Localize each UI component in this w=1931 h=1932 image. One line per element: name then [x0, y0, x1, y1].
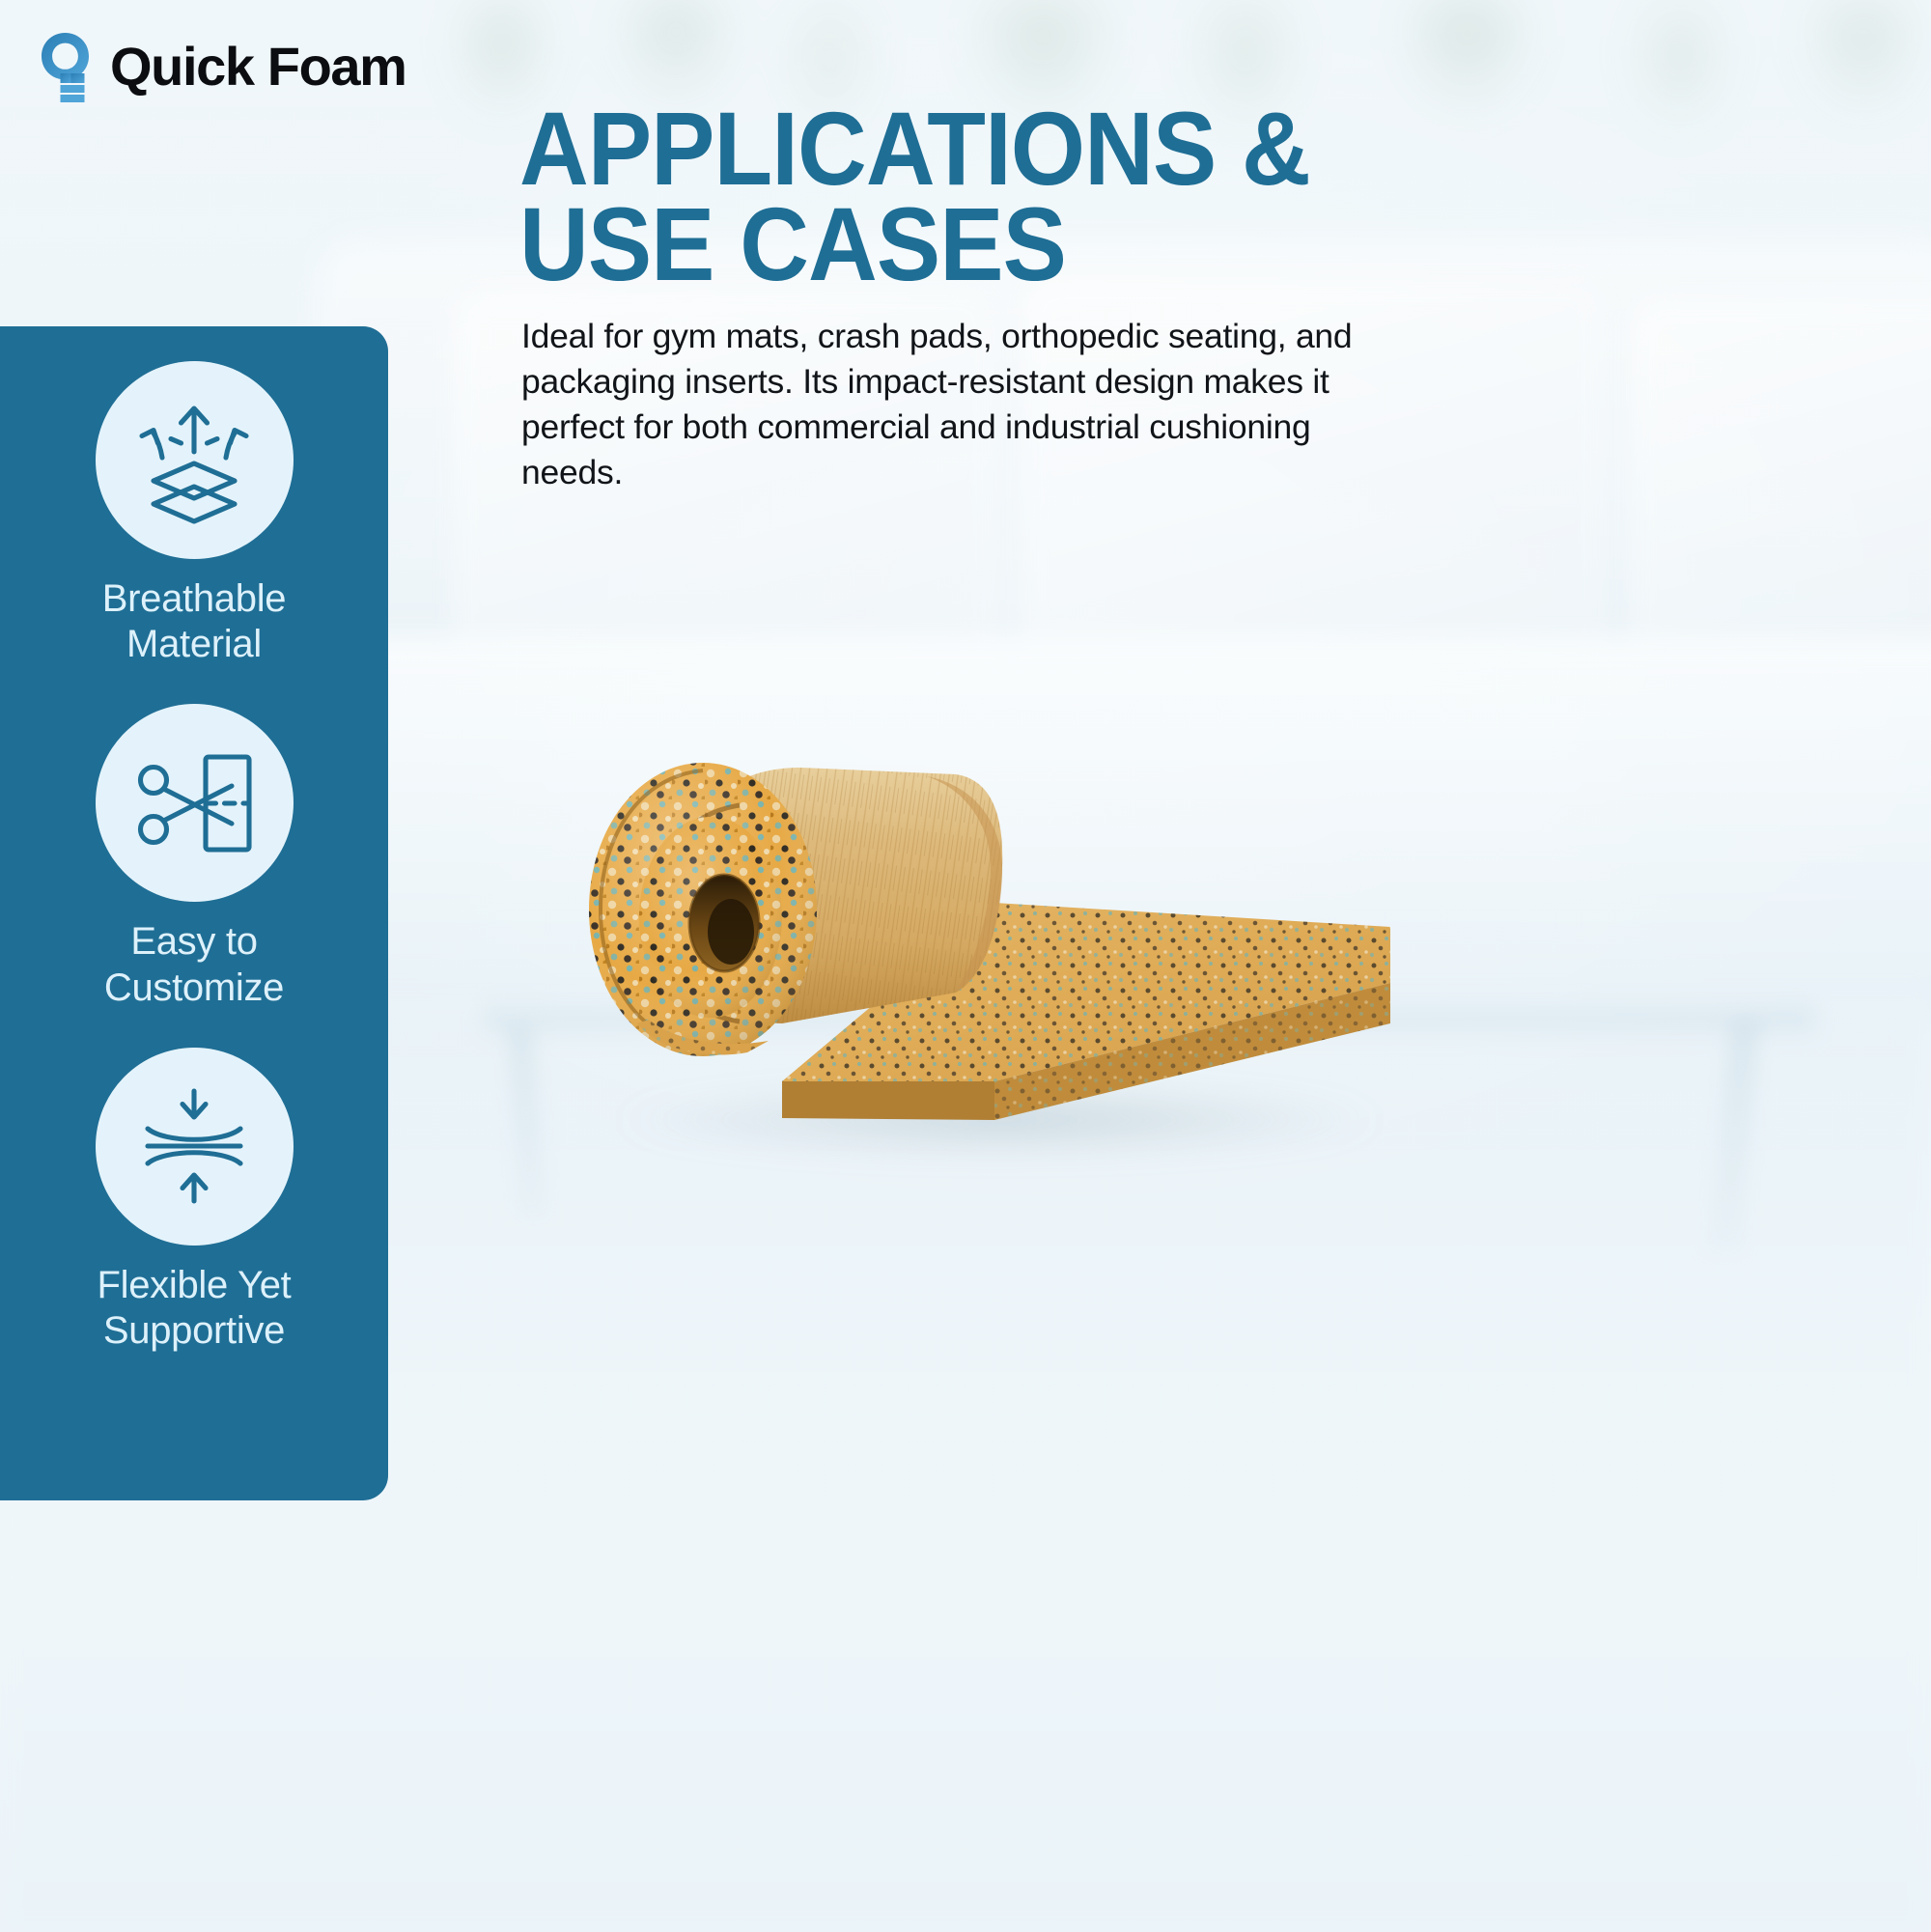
- feature-label: Flexible Yet Supportive: [98, 1263, 292, 1354]
- feature-item-easy-to-customize[interactable]: Easy to Customize: [0, 704, 388, 1010]
- product-image-rebonded-foam-roll: [541, 734, 1410, 1168]
- feature-item-flexible-yet-supportive[interactable]: Flexible Yet Supportive: [0, 1048, 388, 1354]
- scissors-cut-sheet-icon: [122, 731, 266, 876]
- feature-icon-circle: [96, 361, 294, 559]
- feature-icon-circle: [96, 1048, 294, 1246]
- page-title-line-2: USE CASES: [519, 196, 1310, 292]
- intro-paragraph: Ideal for gym mats, crash pads, orthoped…: [521, 314, 1410, 494]
- quick-foam-q-mark-icon: [39, 31, 93, 102]
- feature-panel: Breathable Material Easy to Customize: [0, 326, 388, 1500]
- feature-label: Easy to Customize: [104, 919, 284, 1010]
- feature-item-breathable-material[interactable]: Breathable Material: [0, 361, 388, 667]
- feature-label: Breathable Material: [102, 576, 286, 667]
- foam-roll-cut-face: [589, 763, 817, 1056]
- compression-flex-layers-icon: [122, 1074, 266, 1218]
- breathable-layers-arrows-icon: [122, 388, 266, 533]
- foam-roll-and-sheet-illustration: [541, 734, 1410, 1168]
- page-title: APPLICATIONS & USE CASES: [519, 100, 1310, 293]
- brand-wordmark: Quick Foam: [110, 40, 406, 94]
- brand-logo[interactable]: Quick Foam: [39, 31, 406, 102]
- feature-icon-circle: [96, 704, 294, 902]
